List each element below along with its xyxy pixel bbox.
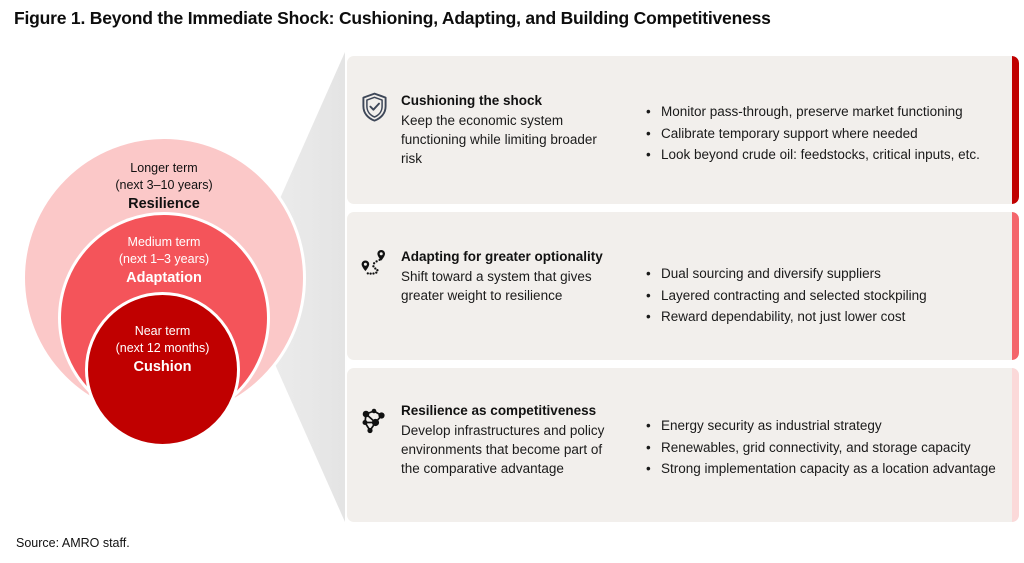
shield-check-icon <box>361 92 388 122</box>
list-item: Energy security as industrial strategy <box>646 416 1001 437</box>
circle-term-outer: Longer term <box>130 160 197 177</box>
list-item: Look beyond crude oil: feedstocks, criti… <box>646 145 1001 166</box>
panel-1-heading: Cushioning the shock <box>401 92 613 110</box>
tiered-circles-diagram: Longer term (next 3–10 years) Resilience… <box>0 52 345 522</box>
panel-1-description: Keep the economic system functioning whi… <box>401 111 613 168</box>
page-title: Figure 1. Beyond the Immediate Shock: Cu… <box>14 8 771 29</box>
panel-1-text: Cushioning the shock Keep the economic s… <box>401 56 613 168</box>
panel-2-bullets-cell: Dual sourcing and diversify suppliers La… <box>613 212 1019 329</box>
circle-term-inner: Near term <box>135 323 191 340</box>
circle-horizon-inner: (next 12 months) <box>116 340 210 357</box>
list-item: Calibrate temporary support where needed <box>646 124 1001 145</box>
panel-2-text: Adapting for greater optionality Shift t… <box>401 212 613 305</box>
circle-term-middle: Medium term <box>128 234 201 251</box>
source-note: Source: AMRO staff. <box>16 536 130 550</box>
panel-3-description: Develop infrastructures and policy envir… <box>401 421 613 478</box>
circle-label-inner: Cushion <box>134 357 192 377</box>
list-item: Layered contracting and selected stockpi… <box>646 286 1001 307</box>
panel-3-icon-cell <box>347 368 401 436</box>
panel-3-text: Resilience as competitiveness Develop in… <box>401 368 613 478</box>
panel-3-accent-bar <box>1012 368 1019 522</box>
panel-1-accent-bar <box>1012 56 1019 204</box>
panel-2-bullet-list: Dual sourcing and diversify suppliers La… <box>646 264 1001 328</box>
list-item: Renewables, grid connectivity, and stora… <box>646 438 1001 459</box>
list-item: Dual sourcing and diversify suppliers <box>646 264 1001 285</box>
route-pins-icon <box>359 248 389 278</box>
panel-2-description: Shift toward a system that gives greater… <box>401 267 613 305</box>
circle-horizon-outer: (next 3–10 years) <box>115 177 212 194</box>
list-item: Reward dependability, not just lower cos… <box>646 307 1001 328</box>
circle-label-outer: Resilience <box>128 194 200 214</box>
network-nodes-icon <box>359 406 389 436</box>
panel-cushioning: Cushioning the shock Keep the economic s… <box>347 56 1019 204</box>
panel-3-heading: Resilience as competitiveness <box>401 402 613 420</box>
circle-horizon-middle: (next 1–3 years) <box>119 251 209 268</box>
list-item: Strong implementation capacity as a loca… <box>646 459 1001 480</box>
panel-3-bullet-list: Energy security as industrial strategy R… <box>646 416 1001 480</box>
circle-label-middle: Adaptation <box>126 268 202 288</box>
list-item: Monitor pass-through, preserve market fu… <box>646 102 1001 123</box>
action-panels: Cushioning the shock Keep the economic s… <box>347 56 1019 522</box>
panel-2-heading: Adapting for greater optionality <box>401 248 613 266</box>
panel-adapting: Adapting for greater optionality Shift t… <box>347 212 1019 360</box>
panel-1-bullet-list: Monitor pass-through, preserve market fu… <box>646 102 1001 166</box>
panel-3-bullets-cell: Energy security as industrial strategy R… <box>613 368 1019 481</box>
circle-tier-near-term: Near term (next 12 months) Cushion <box>85 292 240 447</box>
panel-1-bullets-cell: Monitor pass-through, preserve market fu… <box>613 56 1019 167</box>
panel-2-icon-cell <box>347 212 401 278</box>
panel-resilience: Resilience as competitiveness Develop in… <box>347 368 1019 522</box>
panel-2-accent-bar <box>1012 212 1019 360</box>
panel-1-icon-cell <box>347 56 401 122</box>
